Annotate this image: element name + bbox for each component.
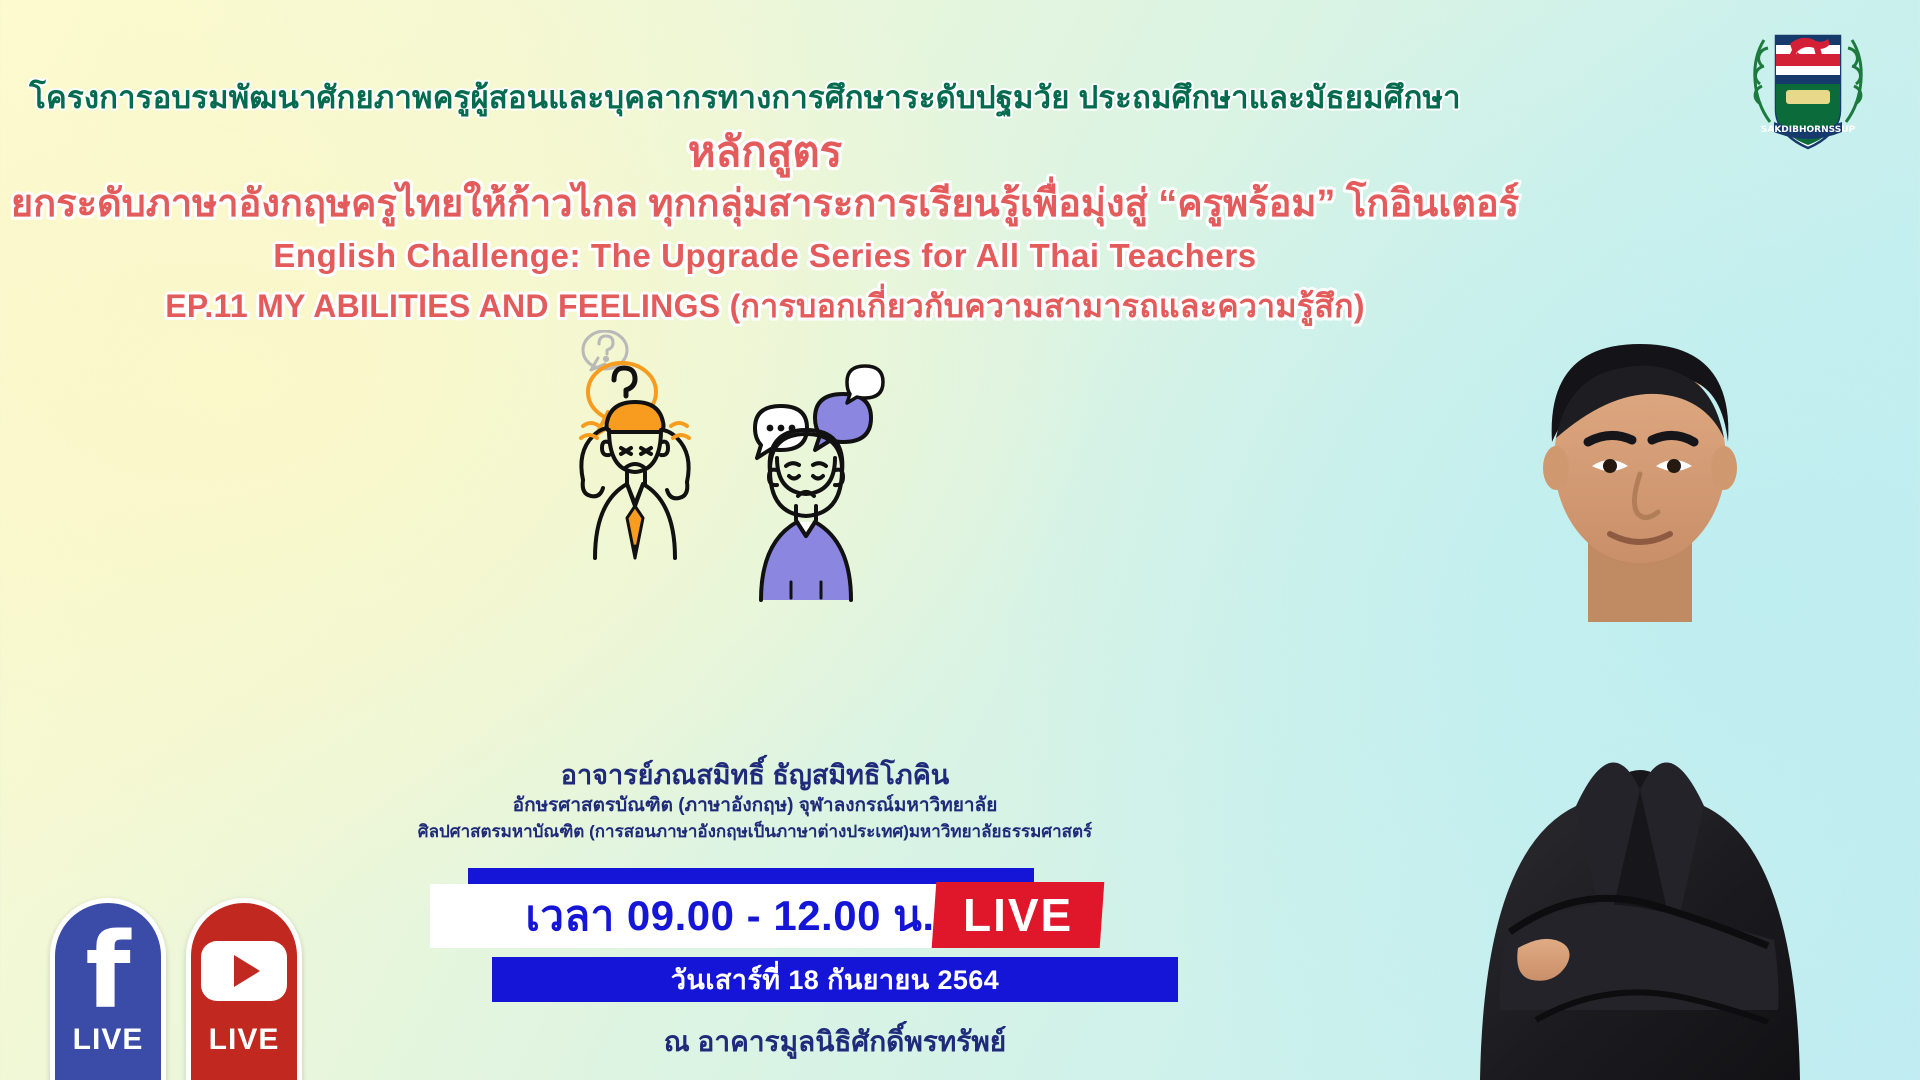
time-text: เวลา 09.00 - 12.00 น. <box>525 883 934 949</box>
youtube-play-icon <box>201 925 287 1017</box>
crest-motto: SAKDIBHORNSSUP <box>1761 125 1856 135</box>
headline-english: English Challenge: The Upgrade Series fo… <box>0 232 1530 280</box>
facebook-live-label: LIVE <box>73 1023 144 1057</box>
program-title: โครงการอบรมพัฒนาศักยภาพครูผู้สอนและบุคลา… <box>0 72 1490 122</box>
youtube-live-label: LIVE <box>209 1023 280 1057</box>
course-label: หลักสูตร <box>0 128 1530 176</box>
speaker-name: อาจารย์ภณสมิทธิ์ ธัญสมิทธิโภคิน <box>0 758 1510 792</box>
speaker-degree-1: อักษรศาสตรบัณฑิต (ภาษาอังกฤษ) จุฬาลงกรณ์… <box>0 792 1510 819</box>
speaker-degree-2: ศิลปศาสตรมหาบัณฑิต (การสอนภาษาอังกฤษเป็น… <box>0 819 1510 845</box>
poster-canvas: SAKDIBHORNSSUP โครงการอบรมพัฒนาศักยภาพคร… <box>0 0 1920 1080</box>
venue-text: ณ อาคารมูลนิธิศักดิ์พรทรัพย์ <box>664 1026 1006 1057</box>
school-crest-icon: SAKDIBHORNSSUP <box>1734 14 1882 162</box>
date-banner: วันเสาร์ที่ 18 กันยายน 2564 <box>492 957 1178 1002</box>
presenter-photo <box>1360 320 1920 1080</box>
date-text: วันเสาร์ที่ 18 กันยายน 2564 <box>671 958 999 1001</box>
episode-line: EP.11 MY ABILITIES AND FEELINGS (การบอกเ… <box>0 280 1530 332</box>
live-badge: LIVE <box>932 882 1105 948</box>
facebook-icon: f <box>85 925 130 1017</box>
confused-people-illustration <box>565 330 985 620</box>
speaker-credentials: อาจารย์ภณสมิทธิ์ ธัญสมิทธิโภคิน อักษรศาส… <box>0 758 1510 845</box>
facebook-live-button[interactable]: f LIVE <box>50 898 166 1080</box>
headline-thai: ยกระดับภาษาอังกฤษครูไทยให้ก้าวไกล ทุกกลุ… <box>0 176 1530 232</box>
venue-line: ณ อาคารมูลนิธิศักดิ์พรทรัพย์ <box>492 1020 1178 1064</box>
live-badge-label: LIVE <box>963 888 1073 942</box>
headline-block: หลักสูตร ยกระดับภาษาอังกฤษครูไทยให้ก้าวไ… <box>0 128 1530 332</box>
youtube-live-button[interactable]: LIVE <box>186 898 302 1080</box>
